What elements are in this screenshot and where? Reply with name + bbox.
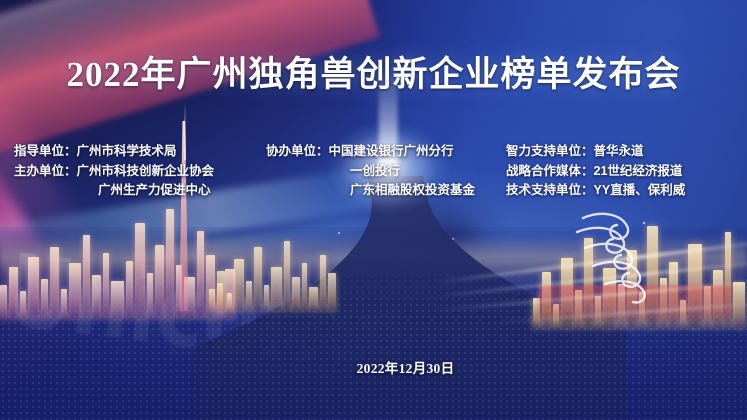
credit-label: 技术支持单位：: [506, 181, 594, 201]
credit-value: 广州市科技创新企业协会: [77, 162, 215, 182]
credit-value: 广州市科学技术局: [77, 142, 177, 162]
credits-block: 指导单位： 广州市科学技术局 主办单位： 广州市科技创新企业协会 广州生产力促进…: [0, 142, 747, 201]
poster-content: 2022年广州独角兽创新企业榜单发布会 指导单位： 广州市科学技术局 主办单位：…: [0, 0, 747, 420]
credit-line: 指导单位： 广州市科学技术局: [14, 142, 266, 162]
credit-label: 主办单位：: [14, 162, 77, 182]
credit-value: 广东相融股权投资基金: [350, 181, 475, 201]
credits-column-left: 指导单位： 广州市科学技术局 主办单位： 广州市科技创新企业协会 广州生产力促进…: [14, 142, 266, 201]
credit-line: 广州生产力促进中心: [14, 181, 266, 201]
credit-line: 战略合作媒体： 21世纪经济报道: [506, 162, 685, 182]
page-title: 2022年广州独角兽创新企业榜单发布会: [0, 46, 747, 97]
credit-value: 普华永道: [594, 142, 644, 162]
credit-label: 协办单位：: [266, 142, 329, 162]
credits-column-middle: 协办单位： 中国建设银行广州分行 一创投行 广东相融股权投资基金: [266, 142, 506, 201]
credits-column-right: 智力支持单位： 普华永道 战略合作媒体： 21世纪经济报道 技术支持单位： YY…: [506, 142, 685, 201]
credit-value: 广州生产力促进中心: [98, 181, 211, 201]
credit-label: 智力支持单位：: [506, 142, 594, 162]
credit-value: YY直播、保利威: [594, 181, 686, 201]
event-poster: Unicorns: [0, 0, 747, 420]
event-date: 2022年12月30日: [32, 357, 747, 377]
credit-line: 广东相融股权投资基金: [266, 181, 506, 201]
credit-value: 一创投行: [350, 162, 400, 182]
credit-value: 21世纪经济报道: [594, 162, 683, 182]
credit-line: 协办单位： 中国建设银行广州分行: [266, 142, 506, 162]
credit-line: 技术支持单位： YY直播、保利威: [506, 181, 685, 201]
credit-line: 一创投行: [266, 162, 506, 182]
credit-line: 智力支持单位： 普华永道: [506, 142, 685, 162]
credit-value: 中国建设银行广州分行: [329, 142, 454, 162]
credit-line: 主办单位： 广州市科技创新企业协会: [14, 162, 266, 182]
credit-label: 战略合作媒体：: [506, 162, 594, 182]
credit-label: 指导单位：: [14, 142, 77, 162]
